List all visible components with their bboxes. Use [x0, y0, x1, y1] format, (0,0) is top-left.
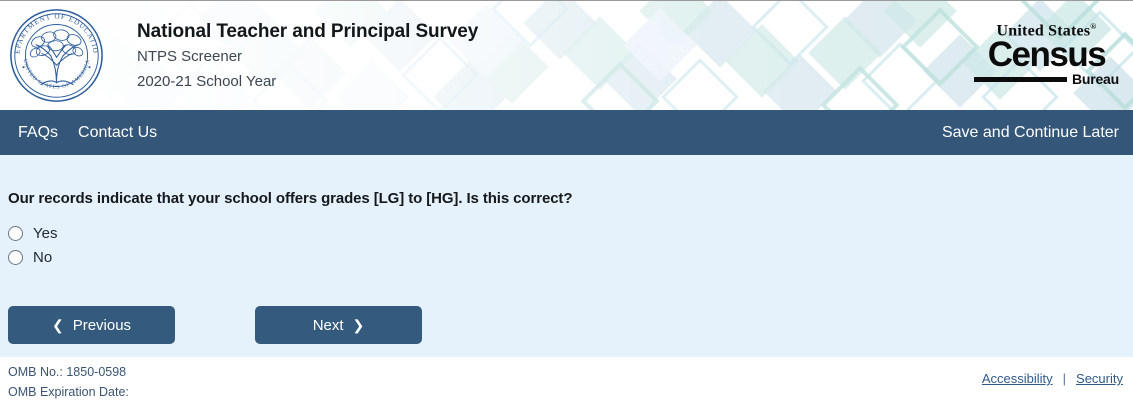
census-logo-line2: Census: [974, 39, 1119, 71]
census-bureau-logo: United States® Census Bureau: [974, 23, 1119, 86]
navigation-bar: FAQs Contact Us Save and Continue Later: [0, 110, 1133, 155]
radio-button-yes[interactable]: [8, 226, 23, 241]
census-logo-rule: [974, 77, 1067, 82]
nav-right-group: Save and Continue Later: [936, 124, 1125, 142]
page-footer: OMB No.: 1850-0598 OMB Expiration Date: …: [0, 357, 1133, 411]
page-title: National Teacher and Principal Survey: [137, 20, 478, 44]
nav-link-contact-us[interactable]: Contact Us: [68, 124, 167, 142]
save-and-continue-later-link[interactable]: Save and Continue Later: [936, 124, 1125, 142]
radio-label-no: No: [33, 249, 52, 266]
main-content: Our records indicate that your school of…: [0, 155, 1133, 357]
radio-option-no[interactable]: No: [8, 245, 52, 269]
survey-school-year: 2020-21 School Year: [137, 69, 478, 94]
department-of-education-seal-icon: DEPARTMENT OF EDUCATION UNITED STATES OF…: [8, 7, 105, 104]
footer-link-separator: |: [1063, 371, 1066, 386]
radio-group-grades-correct: Yes No: [8, 221, 1125, 269]
footer-links-group: Accessibility | Security: [982, 371, 1123, 386]
radio-label-yes: Yes: [33, 225, 57, 242]
navigation-buttons: ❮ Previous Next ❯: [8, 306, 422, 344]
omb-number: OMB No.: 1850-0598: [8, 357, 1125, 382]
nav-links-group: FAQs Contact Us: [8, 124, 167, 142]
question-text: Our records indicate that your school of…: [8, 155, 1125, 207]
page-root: DEPARTMENT OF EDUCATION UNITED STATES OF…: [0, 0, 1133, 411]
accessibility-link[interactable]: Accessibility: [982, 371, 1053, 386]
nav-link-faqs[interactable]: FAQs: [8, 124, 68, 142]
radio-button-no[interactable]: [8, 250, 23, 265]
chevron-right-icon: ❯: [353, 318, 365, 332]
next-button[interactable]: Next ❯: [255, 306, 422, 344]
survey-subtitle: NTPS Screener: [137, 44, 478, 69]
security-link[interactable]: Security: [1076, 371, 1123, 386]
previous-button-label: Previous: [73, 317, 131, 334]
page-header: DEPARTMENT OF EDUCATION UNITED STATES OF…: [0, 0, 1133, 110]
survey-title-block: National Teacher and Principal Survey NT…: [137, 20, 478, 94]
next-button-label: Next: [313, 317, 344, 334]
previous-button[interactable]: ❮ Previous: [8, 306, 175, 344]
registered-mark-icon: ®: [1090, 22, 1096, 31]
omb-expiration-date: OMB Expiration Date:: [8, 382, 1125, 402]
chevron-left-icon: ❮: [52, 318, 64, 332]
census-logo-line3: Bureau: [1072, 72, 1119, 86]
radio-option-yes[interactable]: Yes: [8, 221, 57, 245]
